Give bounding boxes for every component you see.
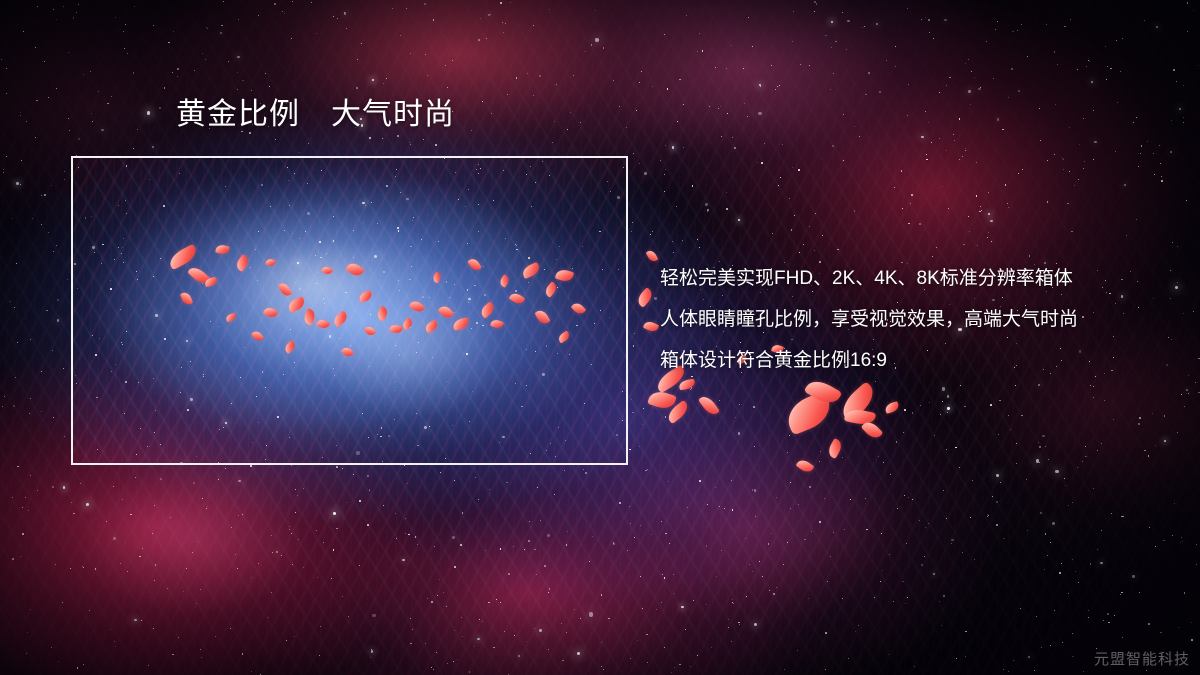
star <box>921 564 923 566</box>
star <box>602 269 603 270</box>
star <box>1048 459 1049 460</box>
star <box>1083 671 1084 672</box>
star <box>206 508 207 509</box>
star <box>13 405 15 407</box>
star <box>362 413 363 414</box>
star <box>152 146 154 148</box>
petal <box>431 271 442 283</box>
star <box>386 185 388 187</box>
star <box>1152 413 1153 414</box>
star <box>1007 203 1008 204</box>
star <box>946 85 947 86</box>
star <box>467 289 469 291</box>
star <box>692 185 694 187</box>
star <box>1063 159 1064 160</box>
star <box>569 354 570 355</box>
star <box>63 368 64 369</box>
star <box>550 443 551 444</box>
star <box>1013 660 1014 661</box>
star <box>809 226 810 227</box>
star <box>993 78 994 79</box>
star <box>122 247 123 248</box>
star <box>323 298 324 299</box>
star <box>942 387 945 390</box>
star <box>669 543 670 544</box>
star <box>363 222 364 223</box>
star <box>721 550 722 551</box>
star <box>371 650 373 652</box>
star <box>1050 645 1052 647</box>
star <box>1183 313 1184 314</box>
star <box>753 406 755 408</box>
star <box>127 53 128 54</box>
star <box>427 75 428 76</box>
star <box>123 238 125 240</box>
star <box>436 652 437 653</box>
star <box>1147 141 1148 142</box>
star <box>1047 555 1049 557</box>
star <box>980 206 981 207</box>
star <box>1068 593 1069 594</box>
star <box>1171 120 1172 121</box>
star <box>477 638 479 640</box>
star <box>859 136 860 137</box>
star <box>63 6 64 7</box>
star <box>792 167 793 168</box>
star <box>1177 246 1178 247</box>
star <box>53 9 54 10</box>
star <box>478 164 480 166</box>
star <box>755 516 756 517</box>
star <box>861 390 862 391</box>
star <box>78 138 80 140</box>
star <box>155 564 156 565</box>
star <box>123 262 124 263</box>
star <box>68 52 70 54</box>
star <box>82 566 83 567</box>
star <box>864 26 865 27</box>
star <box>513 546 514 547</box>
star <box>469 421 470 422</box>
star <box>265 387 266 388</box>
star <box>697 239 698 240</box>
star <box>1182 541 1183 542</box>
star <box>56 245 57 246</box>
star <box>172 72 173 73</box>
star <box>410 618 411 619</box>
star <box>951 543 952 544</box>
star <box>527 73 528 74</box>
star <box>74 263 76 265</box>
star <box>288 180 289 181</box>
star <box>125 381 127 383</box>
star <box>30 609 31 610</box>
star <box>336 445 337 446</box>
star <box>731 641 732 642</box>
star <box>77 667 79 669</box>
star <box>754 446 755 447</box>
star <box>57 319 59 321</box>
star <box>262 371 264 373</box>
star <box>1008 671 1009 672</box>
petal <box>521 262 542 279</box>
star <box>907 115 908 116</box>
star <box>201 657 202 658</box>
star <box>439 579 440 580</box>
star <box>546 450 547 451</box>
star <box>510 2 511 3</box>
star <box>631 231 632 232</box>
star <box>886 60 887 61</box>
star <box>230 628 231 629</box>
star <box>348 616 349 617</box>
star <box>901 170 902 171</box>
star <box>405 518 406 519</box>
star <box>1160 163 1161 164</box>
star <box>977 245 978 246</box>
star <box>591 364 592 365</box>
star <box>926 159 928 161</box>
star <box>275 139 276 140</box>
star <box>395 390 396 391</box>
star <box>153 25 154 26</box>
star <box>502 22 503 23</box>
star <box>154 505 155 506</box>
star <box>505 238 506 239</box>
star <box>652 231 653 232</box>
star <box>768 543 770 545</box>
star <box>1180 542 1181 543</box>
star <box>1164 415 1166 417</box>
petal <box>826 438 845 459</box>
star <box>970 104 971 105</box>
star <box>130 514 132 516</box>
star <box>136 454 137 455</box>
star <box>461 617 462 618</box>
star <box>711 647 712 648</box>
star <box>962 156 964 158</box>
star <box>20 184 21 185</box>
star <box>672 146 674 148</box>
star <box>52 486 54 488</box>
star <box>1195 382 1196 383</box>
star <box>1132 575 1134 577</box>
star <box>277 416 279 418</box>
star <box>651 534 652 535</box>
star <box>682 240 683 241</box>
star <box>990 220 992 222</box>
star <box>706 604 708 606</box>
star <box>928 19 930 21</box>
star <box>372 79 374 81</box>
star <box>1115 151 1116 152</box>
star <box>986 41 987 42</box>
petal <box>180 291 193 306</box>
star <box>1193 311 1194 312</box>
star <box>466 353 468 355</box>
star <box>888 654 889 655</box>
star <box>580 618 581 619</box>
star <box>344 12 345 13</box>
star <box>777 86 778 87</box>
star <box>933 573 935 575</box>
star <box>274 3 276 5</box>
star <box>656 609 657 610</box>
star <box>799 252 800 253</box>
star <box>882 570 883 571</box>
star <box>617 196 619 198</box>
star <box>197 541 198 542</box>
star <box>752 46 753 47</box>
star <box>23 31 24 32</box>
star <box>53 251 54 252</box>
star <box>833 73 834 74</box>
star <box>537 487 538 488</box>
star <box>97 449 98 450</box>
star <box>1187 31 1188 32</box>
star <box>336 528 338 530</box>
star <box>914 666 915 667</box>
star <box>1161 176 1162 177</box>
star <box>1085 456 1087 458</box>
star <box>471 130 472 131</box>
star <box>250 465 252 467</box>
star <box>350 345 351 346</box>
star <box>392 8 393 9</box>
star <box>709 106 710 107</box>
petal <box>225 313 237 322</box>
petal <box>251 329 264 343</box>
star <box>478 499 479 500</box>
star <box>55 564 56 565</box>
star <box>1144 20 1145 21</box>
star <box>665 385 667 387</box>
star <box>947 412 948 413</box>
star <box>878 456 879 457</box>
star <box>570 112 571 113</box>
star <box>904 495 905 496</box>
star <box>1054 610 1055 611</box>
star <box>10 301 11 302</box>
star <box>731 45 732 46</box>
star <box>548 592 549 593</box>
petal <box>263 305 279 319</box>
star <box>1008 207 1009 208</box>
star <box>333 512 336 515</box>
star <box>85 217 87 219</box>
star <box>1160 632 1162 634</box>
star <box>242 514 243 515</box>
star <box>660 160 661 161</box>
star <box>769 590 771 592</box>
star <box>402 559 404 561</box>
star <box>965 150 966 151</box>
star <box>976 162 977 163</box>
star <box>544 565 546 567</box>
star <box>257 280 258 281</box>
star <box>407 483 408 484</box>
star <box>800 64 801 65</box>
star <box>608 618 610 620</box>
star <box>51 185 52 186</box>
petal <box>782 390 836 435</box>
star <box>661 521 662 522</box>
star <box>294 362 295 363</box>
star <box>205 59 206 60</box>
star <box>1141 145 1143 147</box>
star <box>346 28 347 29</box>
star <box>400 35 401 36</box>
star <box>1108 622 1109 623</box>
star <box>1153 153 1154 154</box>
star <box>848 658 849 659</box>
star <box>506 482 507 483</box>
star <box>479 619 480 620</box>
star <box>1172 242 1173 243</box>
star <box>991 241 992 242</box>
petal <box>555 268 574 283</box>
star <box>25 497 27 499</box>
star <box>549 175 550 176</box>
star <box>1054 51 1056 53</box>
star <box>35 47 36 48</box>
star <box>791 229 793 231</box>
star <box>73 17 75 19</box>
star <box>672 241 673 242</box>
star <box>998 434 999 435</box>
petal <box>424 319 440 333</box>
star <box>664 191 665 192</box>
star <box>1027 530 1028 531</box>
star <box>345 292 347 294</box>
star <box>1065 485 1066 486</box>
star <box>361 43 362 44</box>
star <box>417 445 419 447</box>
star <box>1074 185 1075 186</box>
star <box>397 227 399 229</box>
star <box>1120 594 1121 595</box>
star <box>395 513 396 514</box>
star <box>699 247 700 248</box>
star <box>650 234 651 235</box>
star <box>454 284 455 285</box>
star <box>942 186 943 187</box>
star <box>929 402 930 403</box>
star <box>1116 40 1117 41</box>
star <box>318 272 319 273</box>
star <box>75 375 76 376</box>
star <box>265 459 266 460</box>
star <box>928 523 929 524</box>
star <box>299 238 300 239</box>
star <box>307 212 310 215</box>
star <box>435 144 437 146</box>
star <box>447 663 448 664</box>
star <box>289 529 291 531</box>
star <box>601 642 602 643</box>
star <box>629 449 631 451</box>
star <box>484 294 486 296</box>
star <box>868 72 870 74</box>
star <box>367 475 369 477</box>
star <box>400 192 401 193</box>
star <box>912 499 913 500</box>
star <box>1055 104 1057 106</box>
star <box>12 218 13 219</box>
star <box>26 121 27 122</box>
star <box>1057 64 1059 66</box>
star <box>895 66 896 67</box>
star <box>559 246 560 247</box>
star <box>359 565 360 566</box>
star <box>353 230 354 231</box>
star <box>125 200 126 201</box>
star <box>992 496 993 497</box>
star <box>591 44 593 46</box>
star <box>115 17 116 18</box>
star <box>118 205 119 206</box>
star <box>324 303 325 304</box>
star <box>1183 85 1184 86</box>
star <box>776 587 777 588</box>
star <box>101 263 102 264</box>
star <box>362 202 364 204</box>
star <box>221 25 223 27</box>
star <box>646 634 648 636</box>
star <box>814 1 816 3</box>
star <box>974 559 975 560</box>
star <box>28 510 30 512</box>
star <box>1061 563 1062 564</box>
star <box>482 101 483 102</box>
star <box>160 478 162 480</box>
star <box>790 482 791 483</box>
star <box>783 564 784 565</box>
star <box>474 285 476 287</box>
star <box>126 213 127 214</box>
star <box>673 574 674 575</box>
star <box>980 87 981 88</box>
star <box>564 470 565 471</box>
star <box>874 597 875 598</box>
star <box>83 567 84 568</box>
star <box>1148 455 1150 457</box>
star <box>652 86 653 87</box>
star <box>1008 415 1010 417</box>
star <box>1093 159 1094 160</box>
star <box>728 627 729 628</box>
star <box>609 317 611 319</box>
star <box>321 170 322 171</box>
star <box>292 564 293 565</box>
star <box>739 624 740 625</box>
star <box>153 628 154 629</box>
star <box>383 505 384 506</box>
star <box>250 267 251 268</box>
star <box>69 130 70 131</box>
star <box>1117 102 1118 103</box>
star <box>1177 432 1178 433</box>
star <box>566 544 568 546</box>
star <box>1064 478 1065 479</box>
star <box>305 231 306 232</box>
star <box>46 310 48 312</box>
petal <box>861 419 884 442</box>
star <box>91 216 92 217</box>
star <box>1136 219 1137 220</box>
star <box>316 530 317 531</box>
star <box>555 456 556 457</box>
